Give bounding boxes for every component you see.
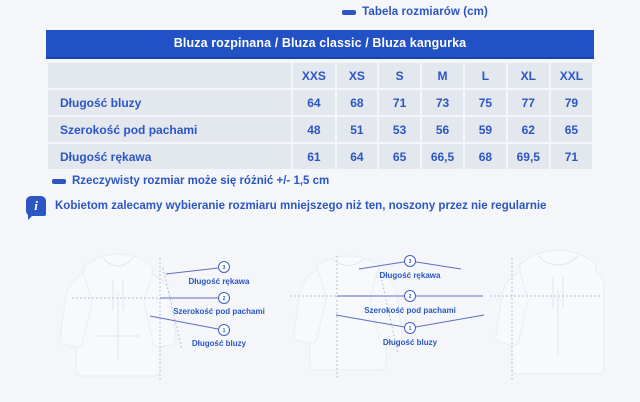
cell-length-xxl: 79 bbox=[551, 90, 592, 115]
callout-number-3: 3 bbox=[409, 259, 412, 265]
callout-marker-3: 3 bbox=[219, 262, 230, 273]
cell-sleeve-xxs: 61 bbox=[293, 144, 334, 169]
cell-sleeve-m: 66,5 bbox=[422, 144, 463, 169]
cell-width-m: 56 bbox=[422, 117, 463, 142]
callout-marker-1: 1 bbox=[405, 323, 416, 334]
cell-width-xxl: 65 bbox=[551, 117, 592, 142]
cell-sleeve-xl: 69,5 bbox=[508, 144, 549, 169]
cell-width-xxs: 48 bbox=[293, 117, 334, 142]
cell-sleeve-l: 68 bbox=[465, 144, 506, 169]
size-header-l: L bbox=[465, 63, 506, 88]
cell-sleeve-s: 65 bbox=[379, 144, 420, 169]
size-header-xxl: XXL bbox=[551, 63, 592, 88]
callout-label-width: Szerokość pod pachami bbox=[364, 306, 456, 315]
row-label-length: Długość bluzy bbox=[48, 90, 291, 115]
size-table-container: Bluza rozpinana / Bluza classic / Bluza … bbox=[46, 30, 594, 171]
row-label-chest-width: Szerokość pod pachami bbox=[48, 117, 291, 142]
cell-length-xl: 77 bbox=[508, 90, 549, 115]
measurement-diagram: .g-fill { fill: #f7f9fc; stroke: #e9eef5… bbox=[0, 238, 640, 402]
cell-length-l: 75 bbox=[465, 90, 506, 115]
callout-label-length: Długość bluzy bbox=[192, 339, 247, 348]
callout-label-sleeve: Długość rękawa bbox=[380, 271, 441, 280]
caption-label: Tabela rozmiarów (cm) bbox=[362, 6, 488, 18]
callout-marker-3: 3 bbox=[405, 256, 416, 267]
dash-marker-icon bbox=[342, 10, 356, 15]
size-header-xxs: XXS bbox=[293, 63, 334, 88]
callout-label-width: Szerokość pod pachami bbox=[173, 307, 265, 316]
callout-number-1: 1 bbox=[223, 328, 226, 334]
callout-label-length: Długość bluzy bbox=[383, 338, 438, 347]
cell-width-xs: 51 bbox=[337, 117, 378, 142]
table-row: Długość rękawa 61 64 65 66,5 68 69,5 71 bbox=[48, 144, 592, 169]
info-note: i Kobietom zalecamy wybieranie rozmiaru … bbox=[26, 196, 546, 216]
callout-number-3: 3 bbox=[223, 265, 226, 271]
table-corner-cell bbox=[48, 63, 291, 88]
size-header-xs: XS bbox=[337, 63, 378, 88]
size-header-m: M bbox=[422, 63, 463, 88]
cell-length-xs: 68 bbox=[337, 90, 378, 115]
size-header-xl: XL bbox=[508, 63, 549, 88]
size-table: XXS XS S M L XL XXL Długość bluzy 64 68 … bbox=[46, 61, 594, 171]
size-header-s: S bbox=[379, 63, 420, 88]
info-note-text: Kobietom zalecamy wybieranie rozmiaru mn… bbox=[55, 200, 546, 212]
callout-number-2: 2 bbox=[223, 296, 226, 302]
callout-marker-2: 2 bbox=[219, 293, 230, 304]
table-row: Szerokość pod pachami 48 51 53 56 59 62 … bbox=[48, 117, 592, 142]
row-label-sleeve-length: Długość rękawa bbox=[48, 144, 291, 169]
callout-label-sleeve: Długość rękawa bbox=[189, 277, 250, 286]
cell-length-m: 73 bbox=[422, 90, 463, 115]
size-table-caption: Tabela rozmiarów (cm) bbox=[0, 6, 640, 18]
dash-marker-icon bbox=[52, 179, 66, 184]
callout-number-2: 2 bbox=[409, 294, 412, 300]
cell-width-l: 59 bbox=[465, 117, 506, 142]
callout-marker-1: 1 bbox=[219, 325, 230, 336]
info-icon: i bbox=[26, 196, 46, 216]
cell-width-xl: 62 bbox=[508, 117, 549, 142]
garment-hoodie-zip-front bbox=[60, 254, 176, 376]
cell-width-s: 53 bbox=[379, 117, 420, 142]
cell-sleeve-xxl: 71 bbox=[551, 144, 592, 169]
tolerance-note-text: Rzeczywisty rozmiar może się różnić +/- … bbox=[72, 175, 329, 187]
tolerance-note: Rzeczywisty rozmiar może się różnić +/- … bbox=[52, 175, 329, 187]
table-row: Długość bluzy 64 68 71 73 75 77 79 bbox=[48, 90, 592, 115]
cell-length-s: 71 bbox=[379, 90, 420, 115]
info-glyph: i bbox=[26, 196, 46, 216]
cell-length-xxs: 64 bbox=[293, 90, 334, 115]
size-table-title: Bluza rozpinana / Bluza classic / Bluza … bbox=[46, 30, 594, 59]
cell-sleeve-xs: 64 bbox=[337, 144, 378, 169]
callout-number-1: 1 bbox=[409, 326, 412, 332]
table-header-row: XXS XS S M L XL XXL bbox=[48, 63, 592, 88]
callout-marker-2: 2 bbox=[405, 291, 416, 302]
